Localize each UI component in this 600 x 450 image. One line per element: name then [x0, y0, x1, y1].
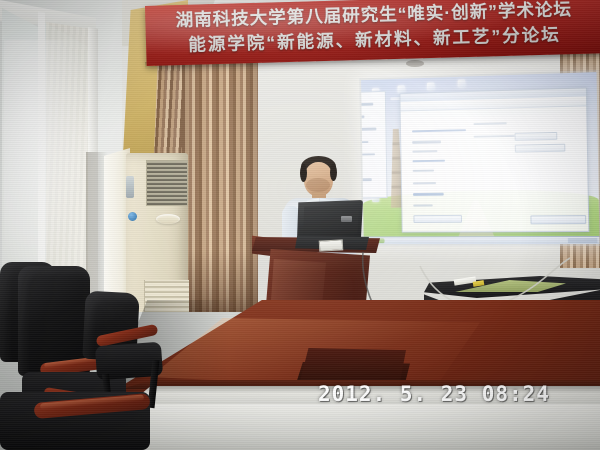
window-daylight-glow: [4, 40, 86, 280]
stage-skirt: [128, 404, 600, 450]
laptop: [295, 200, 369, 252]
conference-photo: 湖南科技大学第八届研究生“唯实·创新”学术论坛 能源学院“新能源、新材料、新工艺…: [0, 0, 600, 450]
laptop-lid: [297, 200, 363, 240]
presenter-face-shading: [306, 178, 330, 192]
stage-step-upper: [300, 348, 406, 384]
projection-screen: [361, 72, 599, 244]
presenter-hair-side-right: [330, 164, 337, 181]
presenter-hair-side-left: [300, 164, 307, 182]
air-conditioner-indicator: [128, 212, 137, 221]
air-conditioner-top-grill: [146, 160, 188, 206]
laptop-brand-badge: [341, 216, 352, 222]
air-conditioner-control-panel: [126, 176, 134, 198]
air-conditioner-logo: [156, 214, 180, 224]
podium-name-card: [319, 239, 344, 251]
screen-border: [359, 70, 600, 246]
camera-timestamp: 2012. 5. 23 08:24: [318, 382, 550, 406]
